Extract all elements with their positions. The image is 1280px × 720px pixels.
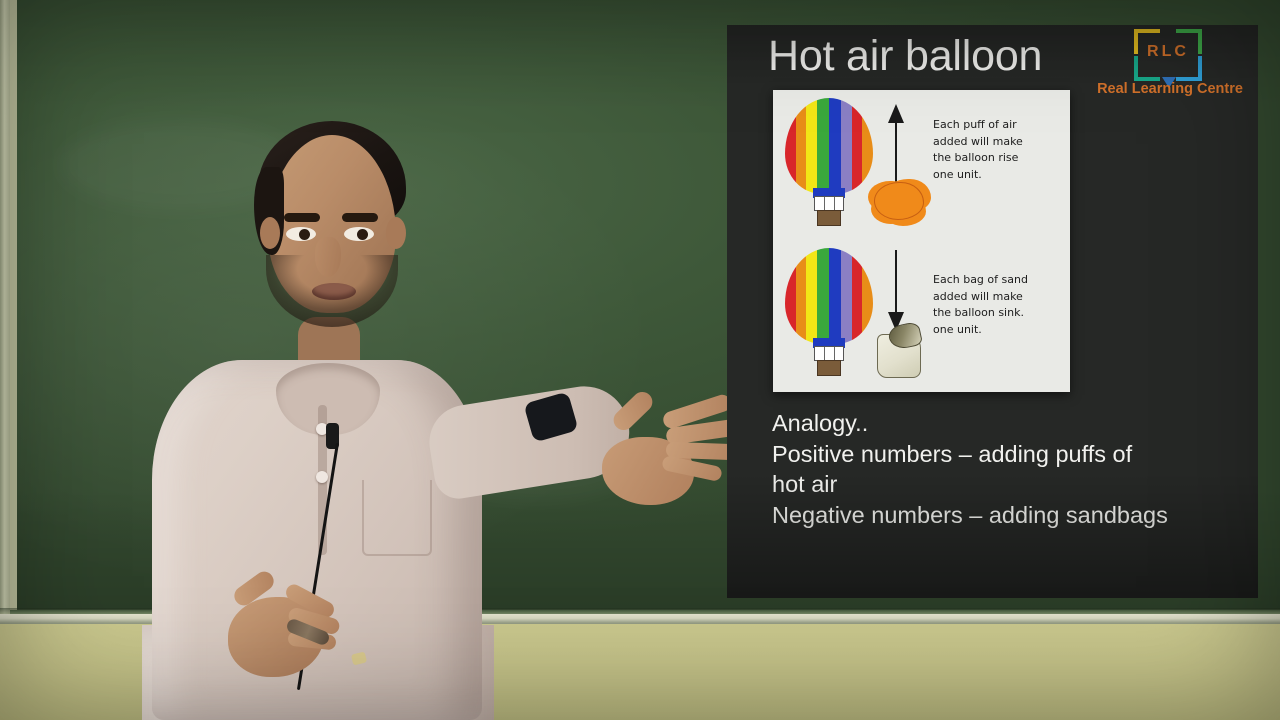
logo-caption: Real Learning Centre [1090, 81, 1250, 97]
caption-sink: Each bag of sand added will make the bal… [933, 272, 1028, 338]
analogy-line: Analogy.. [772, 408, 1242, 439]
hot-air-balloon-icon [785, 98, 873, 224]
chalkboard-frame-left [0, 0, 10, 618]
analogy-text-block: Analogy.. Positive numbers – adding puff… [772, 408, 1242, 530]
instructor-eye [344, 227, 374, 241]
balloon-envelope [785, 248, 873, 344]
instructor-eyebrow [342, 213, 378, 222]
hot-air-balloon-icon [785, 248, 873, 374]
instructor [90, 105, 690, 720]
caption-rise: Each puff of air added will make the bal… [933, 117, 1023, 183]
instructor-mouth [312, 283, 356, 300]
illustration-row-rise: Each puff of air added will make the bal… [773, 90, 1070, 240]
instructor-pupil [357, 229, 368, 240]
video-frame: Hot air balloon RLC Real Learning Centre [0, 0, 1280, 720]
balloon-rigging [814, 346, 844, 361]
logo-bracket-frame-icon: RLC [1134, 29, 1202, 81]
instructor-eyebrow [284, 213, 320, 222]
analogy-line: hot air [772, 469, 1242, 500]
puff-of-air-icon [874, 182, 924, 220]
presentation-slide: Hot air balloon RLC Real Learning Centre [727, 25, 1258, 598]
illustration-panel: Each puff of air added will make the bal… [773, 90, 1070, 392]
instructor-ear [260, 217, 280, 249]
instructor-left-hand [218, 587, 348, 697]
analogy-line: Positive numbers – adding puffs of [772, 439, 1242, 470]
analogy-line: Negative numbers – adding sandbags [772, 500, 1242, 531]
balloon-envelope [785, 98, 873, 194]
balloon-basket [817, 210, 841, 226]
sandbag-icon [877, 324, 921, 376]
instructor-button [316, 471, 328, 483]
arrow-up-shaft [895, 120, 897, 184]
balloon-rigging [814, 196, 844, 211]
logo-letters: RLC [1134, 43, 1202, 61]
instructor-pocket [362, 480, 432, 556]
instructor-eye [286, 227, 316, 241]
illustration-row-sink: Each bag of sand added will make the bal… [773, 240, 1070, 390]
slide-title: Hot air balloon [768, 32, 1042, 81]
thumb [610, 388, 657, 434]
rlc-logo: RLC Real Learning Centre [1090, 25, 1250, 107]
instructor-ear [386, 217, 406, 249]
balloon-basket [817, 360, 841, 376]
instructor-pupil [299, 229, 310, 240]
arrow-down-shaft [895, 250, 897, 314]
